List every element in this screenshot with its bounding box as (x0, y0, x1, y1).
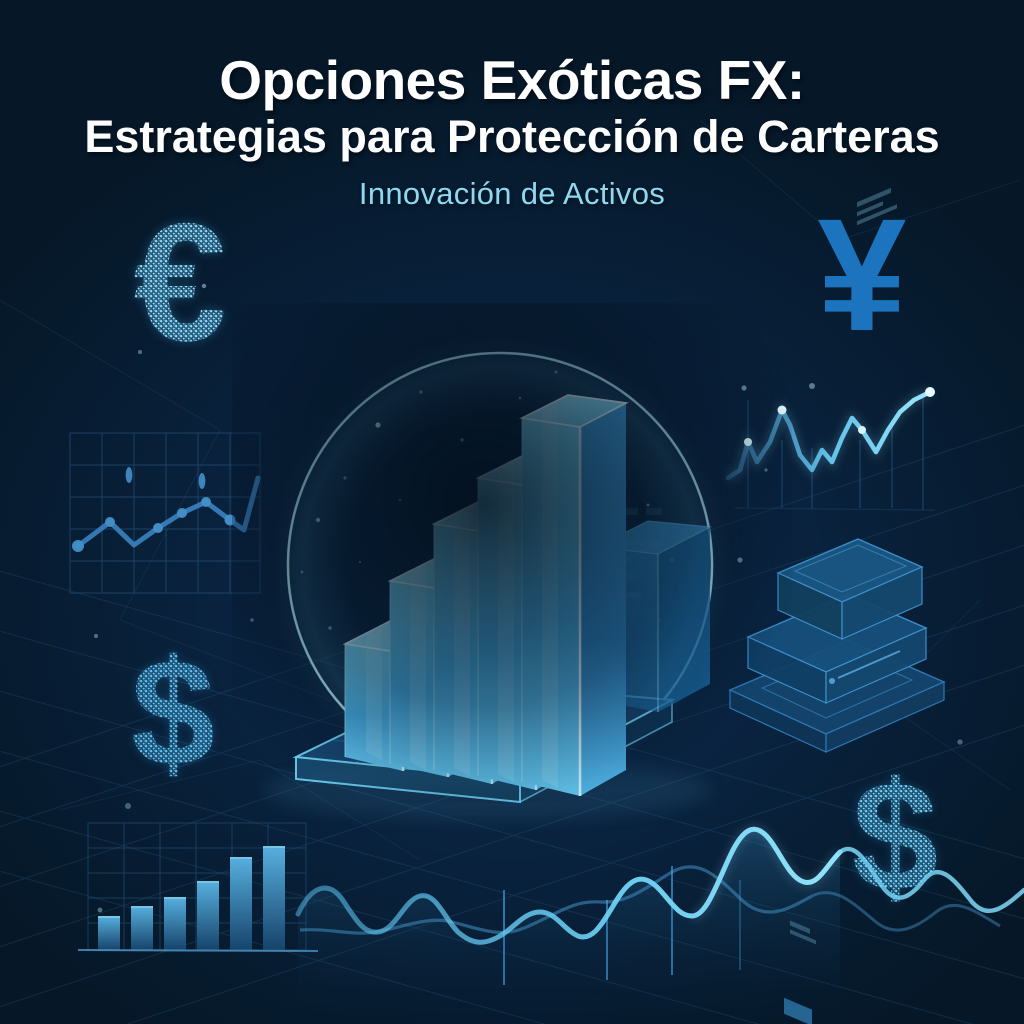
poster-canvas: € € ¥ $ $ $ $ Opciones Exóticas FX: Estr… (0, 0, 1024, 1024)
dollar-sign-left-icon: $ $ (131, 628, 216, 798)
svg-text:$: $ (852, 750, 939, 924)
dollar-sign-right-icon: $ $ (852, 750, 939, 924)
poster-title-line-1: Opciones Exóticas FX: (0, 52, 1024, 108)
svg-text:$: $ (131, 628, 216, 798)
title-block: Opciones Exóticas FX: Estrategias para P… (0, 52, 1024, 212)
svg-text:€: € (133, 188, 226, 376)
poster-title-line-2: Estrategias para Protección de Carteras (0, 112, 1024, 162)
euro-sign-icon: € € (133, 188, 226, 376)
poster-subtitle: Innovación de Activos (0, 176, 1024, 212)
